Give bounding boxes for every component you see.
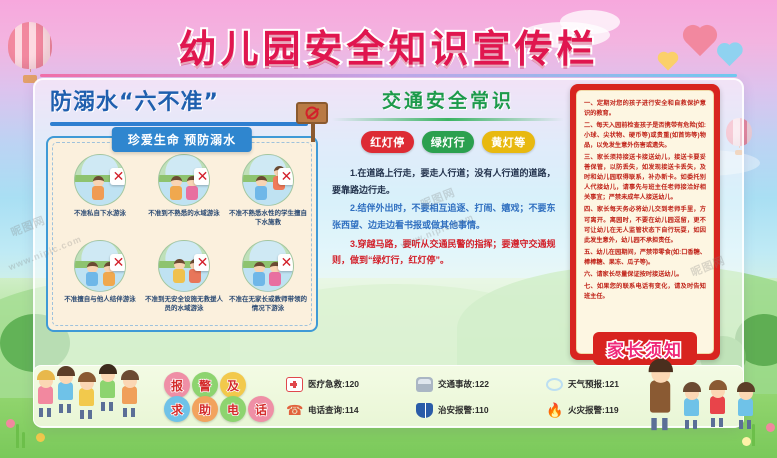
mid-panel-heading: 交通安全常识 <box>332 86 564 113</box>
title-underline <box>40 74 737 77</box>
panel-parent-notice: 一、定期对您的孩子进行安全和自救保护意识的教育。 二、每天入园前检查孩子是否携带… <box>570 84 720 360</box>
poster-root: 幼儿园安全知识宣传栏 防溺水“六不准” 珍爱生命 预防溺水 ✕ 不准私自下水游泳 <box>0 0 777 458</box>
child-figure <box>100 368 115 407</box>
grass-icon <box>22 432 25 448</box>
panel-drowning-prevention: 防溺水“六不准” 珍爱生命 预防溺水 ✕ 不准私自下水游泳 <box>42 84 324 358</box>
emergency-number-item: 交通事故:122 <box>416 377 546 392</box>
rule-item: ✕ 不准到无安全设施无救援人员的水域游泳 <box>142 240 226 326</box>
child-figure <box>79 376 94 415</box>
cloud-icon <box>546 378 563 391</box>
title-bubble: 求 <box>164 396 190 422</box>
x-mark-icon: ✕ <box>194 254 210 271</box>
left-panel-rule <box>50 122 308 126</box>
child-figure <box>38 374 53 413</box>
page-title: 幼儿园安全知识宣传栏 <box>0 18 777 73</box>
x-mark-icon: ✕ <box>110 168 126 185</box>
title-bubble: 警 <box>192 372 218 398</box>
title-bubble: 及 <box>220 372 246 398</box>
shield-icon <box>416 403 433 418</box>
list-item: 七、如果您的联系电话有变化，请及时告知班主任。 <box>584 282 706 302</box>
list-item: 一、定期对您的孩子进行安全和自救保护意识的教育。 <box>584 99 706 119</box>
rule-illustration: ✕ <box>74 154 126 206</box>
rule-caption: 不准到无安全设施无救援人员的水域游泳 <box>145 295 223 314</box>
parent-notice-badge-label: 家长须知 <box>607 341 683 361</box>
rule-caption: 不准不熟悉水性的学生擅自下水施救 <box>229 209 307 228</box>
emergency-number-label: 医疗急救:120 <box>308 378 359 390</box>
teacher-figure <box>650 364 670 425</box>
emergency-number-item: 医疗急救:120 <box>286 377 416 392</box>
x-mark-icon: ✕ <box>278 254 294 271</box>
rule-caption: 不准在无家长或教师带领的情况下游泳 <box>229 295 307 314</box>
list-item: 二、每天入园前检查孩子是否携带有危险(如:小球、尖状物、硬币等)或贵重(如首饰等… <box>584 121 706 151</box>
left-panel-heading: 防溺水“六不准” <box>50 84 324 116</box>
title-bubble: 报 <box>164 372 190 398</box>
rule-illustration: ✕ <box>242 240 294 292</box>
emergency-number-item: ☎ 电话查询:114 <box>286 403 416 418</box>
medical-cross-icon <box>286 377 303 392</box>
child-figure <box>122 374 137 413</box>
rule-illustration: ✕ <box>158 154 210 206</box>
rule-caption: 不准到不熟悉的水域游泳 <box>145 209 223 218</box>
badge-red-light: 红灯停 <box>361 131 414 153</box>
drowning-rules-grid: ✕ 不准私自下水游泳 ✕ 不准到不熟悉的水域游泳 <box>58 154 310 326</box>
parent-notice-badge: 家长须知 <box>578 332 712 365</box>
title-bubble: 话 <box>248 396 274 422</box>
panel-traffic-safety: 交通安全常识 红灯停 绿灯行 黄灯等 1.在道路上行走，要走人行道；没有人行道的… <box>332 86 564 358</box>
traffic-safety-text: 1.在道路上行走，要走人行道；没有人行道的道路，要靠路边行走。 2.结伴外出时，… <box>332 165 564 269</box>
telephone-icon: ☎ <box>286 403 303 418</box>
car-icon <box>416 377 433 392</box>
child-figure <box>58 370 73 409</box>
child-figure <box>684 386 699 425</box>
child-figure <box>710 384 725 423</box>
rule-caption: 不准擅自与他人结伴游泳 <box>61 295 139 304</box>
mid-panel-rule <box>332 118 564 121</box>
list-item: 三、家长须持接送卡接送幼儿，接送卡要妥善保管，以防丢失，如发现接送卡丢失，及时和… <box>584 153 706 203</box>
emergency-number-label: 交通事故:122 <box>438 378 489 390</box>
rule-illustration: ✕ <box>158 240 210 292</box>
emergency-strip-title: 报 警 及 求 助 电 话 <box>162 372 274 422</box>
grass-icon <box>16 424 19 448</box>
traffic-rule-paragraph: 1.在道路上行走，要走人行道；没有人行道的道路，要靠路边行走。 <box>332 165 564 198</box>
rule-item: ✕ 不准私自下水游泳 <box>58 154 142 240</box>
flower-icon <box>6 419 15 428</box>
emergency-number-grid: 医疗急救:120 交通事故:122 天气预报:121 ☎ 电话查询:114 治安… <box>286 371 676 423</box>
emergency-number-label: 天气预报:121 <box>568 378 619 390</box>
poster-title-bar: 幼儿园安全知识宣传栏 <box>0 18 777 73</box>
title-bubble: 电 <box>220 396 246 422</box>
traffic-rule-paragraph: 2.结伴外出时，不要相互追逐、打闹、嬉戏；不要东张西望、边走边看书报或做其他事情… <box>332 200 564 233</box>
list-item: 五、幼儿在园期间，严禁带零食(如:口香糖、棒棒糖、果冻、瓜子等)。 <box>584 248 706 268</box>
teacher-and-children-right <box>650 364 774 446</box>
rule-item: ✕ 不准到不熟悉的水域游泳 <box>142 154 226 240</box>
left-panel-banner: 珍爱生命 预防溺水 <box>112 127 252 152</box>
flame-icon: 🔥 <box>546 403 563 418</box>
emergency-number-item: 治安报警:110 <box>416 403 546 418</box>
parent-notice-inner: 一、定期对您的孩子进行安全和自救保护意识的教育。 二、每天入园前检查孩子是否携带… <box>576 90 714 354</box>
emergency-number-label: 火灾报警:119 <box>568 404 619 416</box>
title-bubble: 助 <box>192 396 218 422</box>
list-item: 六、请家长尽量保证按时接送幼儿。 <box>584 270 706 280</box>
no-swimming-sign-icon <box>296 102 330 142</box>
emergency-number-label: 电话查询:114 <box>308 404 359 416</box>
rule-item: ✕ 不准不熟悉水性的学生擅自下水施救 <box>226 154 310 240</box>
x-mark-icon: ✕ <box>194 168 210 185</box>
child-figure <box>738 386 753 425</box>
badge-green-light: 绿灯行 <box>422 131 475 153</box>
rule-item: ✕ 不准在无家长或教师带领的情况下游泳 <box>226 240 310 326</box>
rule-illustration: ✕ <box>74 240 126 292</box>
list-item: 四、家长每天务必将幼儿交到老师手里，方可离开。离园时，不要在幼儿园逗留，更不可让… <box>584 205 706 245</box>
emergency-number-label: 治安报警:110 <box>438 404 489 416</box>
drowning-rules-card: 珍爱生命 预防溺水 ✕ 不准私自下水游泳 ✕ <box>46 136 318 332</box>
x-mark-icon: ✕ <box>278 168 294 185</box>
parent-notice-list: 一、定期对您的孩子进行安全和自救保护意识的教育。 二、每天入园前检查孩子是否携带… <box>584 99 706 302</box>
children-group-left <box>36 366 156 436</box>
badge-yellow-light: 黄灯等 <box>482 131 535 153</box>
traffic-rule-paragraph: 3.穿越马路，要听从交通民警的指挥；要遵守交通规则，做到“绿灯行，红灯停”。 <box>332 236 564 269</box>
rule-illustration: ✕ <box>242 154 294 206</box>
rule-item: ✕ 不准擅自与他人结伴游泳 <box>58 240 142 326</box>
x-mark-icon: ✕ <box>110 254 126 271</box>
traffic-light-badges: 红灯停 绿灯行 黄灯等 <box>332 131 564 153</box>
rule-caption: 不准私自下水游泳 <box>61 209 139 218</box>
